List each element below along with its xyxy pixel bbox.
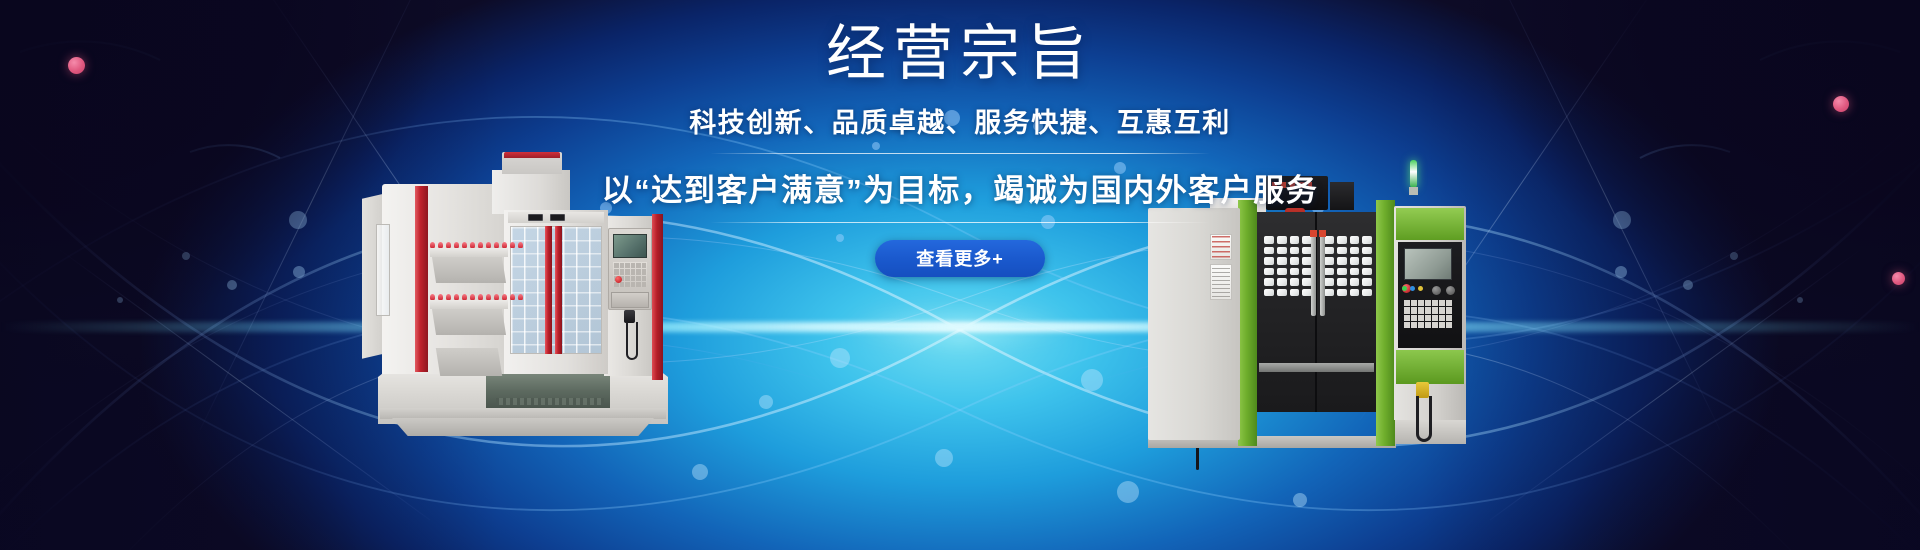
cnc-machining-center-icon — [368, 152, 688, 460]
pink-dot-icon — [68, 57, 85, 74]
view-more-button[interactable]: 查看更多+ — [875, 240, 1045, 277]
pink-dot-icon — [1892, 272, 1905, 285]
green-signal-tower-icon — [1410, 160, 1417, 188]
light-streak-core — [760, 324, 1160, 329]
pink-dot-icon — [1833, 96, 1849, 112]
hero-banner: 经营宗旨 科技创新、品质卓越、服务快捷、互惠互利 以“达到客户满意”为目标，竭诚… — [0, 0, 1920, 550]
cnc-vertical-mill-icon — [1148, 160, 1478, 460]
